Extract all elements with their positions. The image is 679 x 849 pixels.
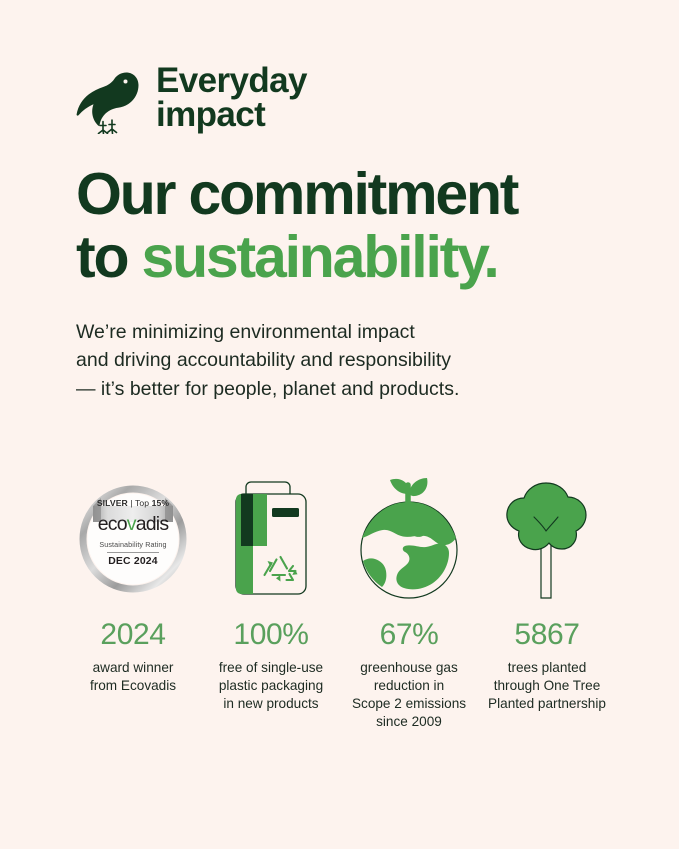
stats-row: SILVER | Top 15% ecovadis Sustainability… [64, 468, 616, 731]
stat-caption-line2: plastic packaging [219, 677, 323, 695]
intro-paragraph: We’re minimizing environmental impact an… [76, 318, 459, 403]
stat-caption-line3: Planted partnership [488, 695, 606, 713]
brand-logo: Everyday impact [76, 62, 307, 134]
stat-caption-line2: from Ecovadis [90, 677, 176, 695]
stat-caption-line2: reduction in [352, 677, 466, 695]
stat-icon-wrapper: SILVER | Top 15% ecovadis Sustainability… [77, 468, 189, 608]
headline-line1: Our commitment [76, 161, 517, 227]
stat-caption-line3: Scope 2 emissions [352, 695, 466, 713]
stat-caption: award winner from Ecovadis [90, 659, 176, 695]
stat-caption-line1: award winner [90, 659, 176, 677]
stat-emissions: 67% greenhouse gas reduction in Scope 2 … [340, 468, 478, 731]
intro-line1: We’re minimizing environmental impact [76, 318, 459, 346]
stat-value: 2024 [100, 620, 165, 650]
packaging-recycling-icon [223, 474, 319, 602]
tree-icon [495, 472, 599, 604]
stat-value: 67% [380, 620, 439, 650]
sustainability-infographic: Everyday impact Our commitment to sustai… [0, 0, 679, 849]
stat-value: 5867 [514, 620, 579, 650]
intro-line3: — it’s better for people, planet and pro… [76, 375, 459, 403]
stat-caption: free of single-use plastic packaging in … [219, 659, 323, 713]
stat-ecovadis: SILVER | Top 15% ecovadis Sustainability… [64, 468, 202, 695]
brand-name-line1: Everyday [156, 64, 307, 98]
stat-caption: trees planted through One Tree Planted p… [488, 659, 606, 713]
stat-icon-wrapper [223, 468, 319, 608]
headline-line2-prefix: to [76, 224, 141, 290]
stat-caption-line3: in new products [219, 695, 323, 713]
page-title: Our commitment to sustainability. [76, 163, 517, 289]
stat-plastic-free: 100% free of single-use plastic packagin… [202, 468, 340, 713]
medal-ring-graphic [77, 482, 189, 594]
brand-name: Everyday impact [156, 64, 307, 131]
stat-caption-line4: since 2009 [352, 713, 466, 731]
stat-caption: greenhouse gas reduction in Scope 2 emis… [352, 659, 466, 731]
stat-value: 100% [233, 620, 308, 650]
stat-caption-line1: greenhouse gas [352, 659, 466, 677]
stat-caption-line2: through One Tree [488, 677, 606, 695]
brand-name-line2: impact [156, 98, 307, 132]
intro-line2: and driving accountability and responsib… [76, 346, 459, 374]
stat-icon-wrapper [495, 468, 599, 608]
headline-accent: sustainability. [141, 224, 497, 290]
ecovadis-medal-icon: SILVER | Top 15% ecovadis Sustainability… [77, 482, 189, 594]
stat-trees-planted: 5867 trees planted through One Tree Plan… [478, 468, 616, 713]
globe-sprout-icon [353, 468, 465, 608]
stat-caption-line1: trees planted [488, 659, 606, 677]
bird-icon [76, 62, 142, 134]
stat-icon-wrapper [353, 468, 465, 608]
stat-caption-line1: free of single-use [219, 659, 323, 677]
